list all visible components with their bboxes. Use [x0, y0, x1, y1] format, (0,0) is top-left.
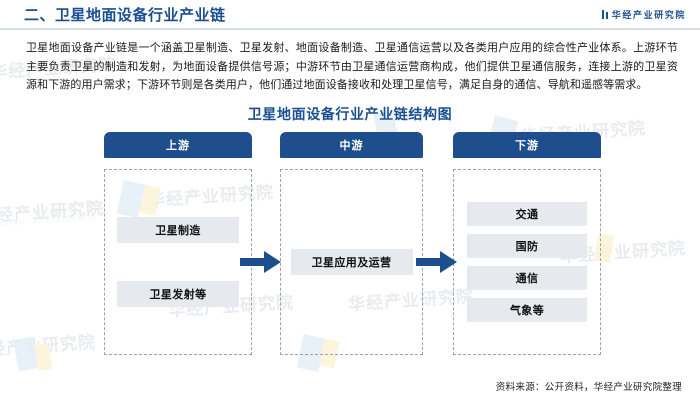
node-item: 交通	[467, 202, 587, 226]
page-title: 二、卫星地面设备行业产业链	[24, 4, 226, 25]
node-item: 通信	[467, 266, 587, 290]
tier-box-downstream: 交通 国防 通信 气象等	[453, 169, 601, 355]
page-header: 二、卫星地面设备行业产业链 华经产业研究院	[0, 0, 700, 30]
node-item: 卫星应用及运营	[291, 249, 413, 275]
source-note: 资料来源：公开资料，华经产业研究院整理	[496, 379, 682, 393]
node-item: 卫星发射等	[117, 281, 239, 307]
brand-name: 华经产业研究院	[612, 8, 686, 21]
intro-paragraph: 卫星地面设备产业链是一个涵盖卫星制造、卫星发射、地面设备制造、卫星通信运营以及各…	[26, 39, 678, 95]
tier-header-downstream: 下游	[453, 132, 601, 158]
tier-header-upstream: 上游	[104, 132, 252, 158]
arrow-right-icon	[240, 250, 282, 274]
node-item: 国防	[467, 234, 587, 258]
bars-logo-icon	[602, 10, 608, 19]
industry-chain-diagram: 上游 中游 下游 卫星制造 卫星发射等 卫星应用及运营 交通 国防 通信 气象等	[0, 132, 700, 362]
node-item: 卫星制造	[117, 217, 239, 243]
node-item: 气象等	[467, 298, 587, 322]
tier-box-midstream: 卫星应用及运营	[280, 169, 423, 355]
arrow-right-icon	[416, 250, 458, 274]
tier-header-midstream: 中游	[280, 132, 423, 158]
brand-logo: 华经产业研究院	[602, 8, 686, 21]
tier-box-upstream: 卫星制造 卫星发射等	[104, 169, 252, 355]
chart-title: 卫星地面设备行业产业链结构图	[0, 104, 700, 124]
